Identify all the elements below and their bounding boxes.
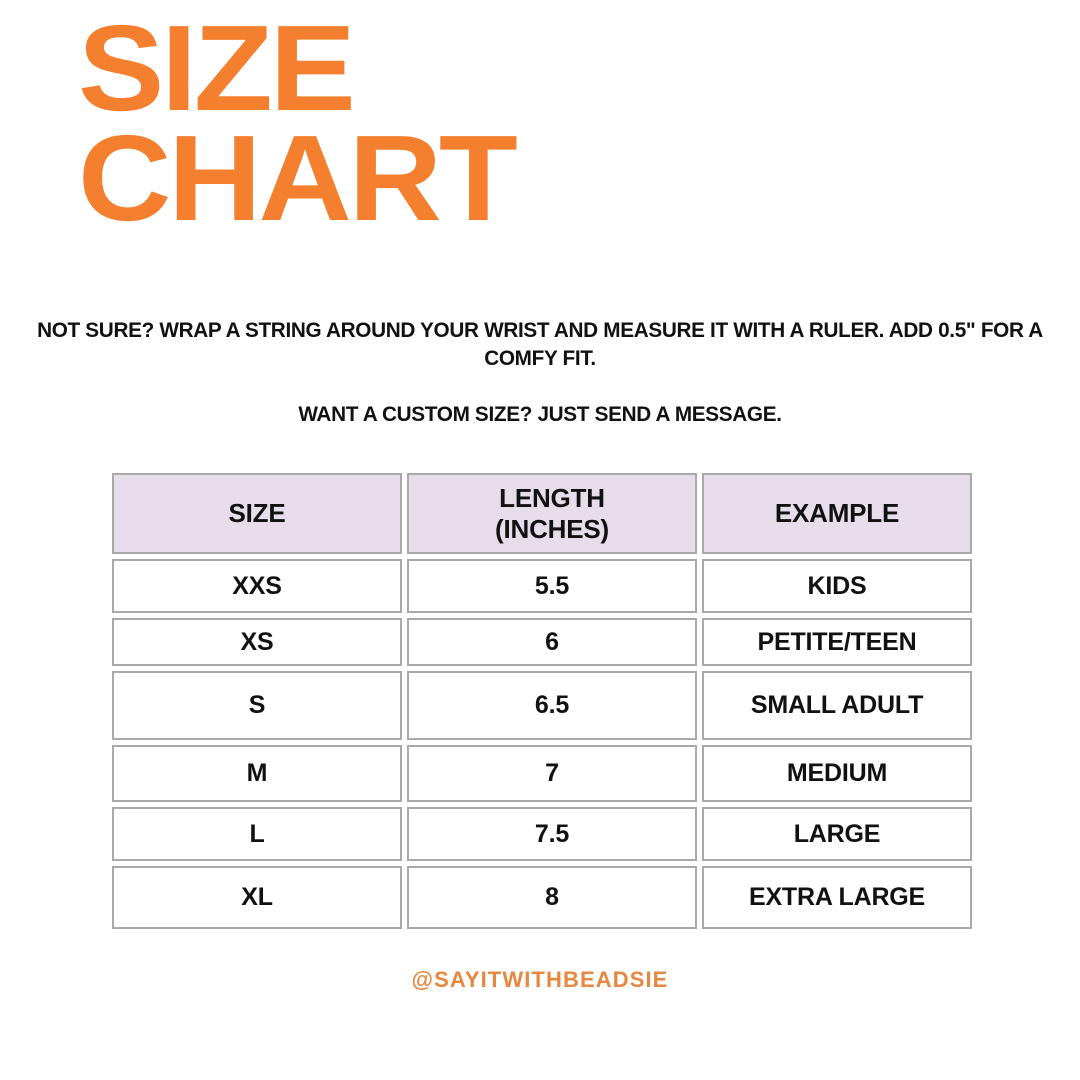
table-row: XS 6 PETITE/TEEN [112,618,972,666]
column-header-size: SIZE [112,473,402,554]
table-row: S 6.5 SMALL ADULT [112,671,972,740]
title-line-chart: CHART [78,128,1032,228]
cell-length: 7 [407,745,697,802]
table-row: M 7 MEDIUM [112,745,972,802]
cell-example: EXTRA LARGE [702,866,972,929]
cell-length: 6 [407,618,697,666]
cell-example: PETITE/TEEN [702,618,972,666]
cell-example: LARGE [702,807,972,861]
instagram-handle: @SAYITWITHBEADSIE [0,967,1080,993]
table-row: XXS 5.5 KIDS [112,559,972,613]
column-header-example: EXAMPLE [702,473,972,554]
cell-length: 7.5 [407,807,697,861]
column-header-length: LENGTH (INCHES) [407,473,697,554]
table-header-row: SIZE LENGTH (INCHES) EXAMPLE [112,473,972,554]
cell-example: SMALL ADULT [702,671,972,740]
column-header-length-line1: LENGTH [495,483,609,514]
cell-size: XS [112,618,402,666]
intro-paragraph-custom-size: WANT A CUSTOM SIZE? JUST SEND A MESSAGE. [27,400,1054,428]
page-title: SIZE CHART [78,18,978,228]
cell-size: M [112,745,402,802]
table-row: XL 8 EXTRA LARGE [112,866,972,929]
intro-paragraph-measuring: NOT SURE? WRAP A STRING AROUND YOUR WRIS… [27,316,1054,373]
size-chart-canvas: SIZE CHART NOT SURE? WRAP A STRING AROUN… [0,0,1080,1080]
column-header-length-line2: (INCHES) [495,514,609,545]
cell-size: S [112,671,402,740]
cell-example: MEDIUM [702,745,972,802]
cell-length: 5.5 [407,559,697,613]
title-line-size: SIZE [78,18,1032,118]
cell-length: 6.5 [407,671,697,740]
cell-example: KIDS [702,559,972,613]
cell-size: XL [112,866,402,929]
cell-size: L [112,807,402,861]
cell-size: XXS [112,559,402,613]
table-row: L 7.5 LARGE [112,807,972,861]
size-chart-table: SIZE LENGTH (INCHES) EXAMPLE XXS 5.5 KID… [112,473,972,934]
cell-length: 8 [407,866,697,929]
